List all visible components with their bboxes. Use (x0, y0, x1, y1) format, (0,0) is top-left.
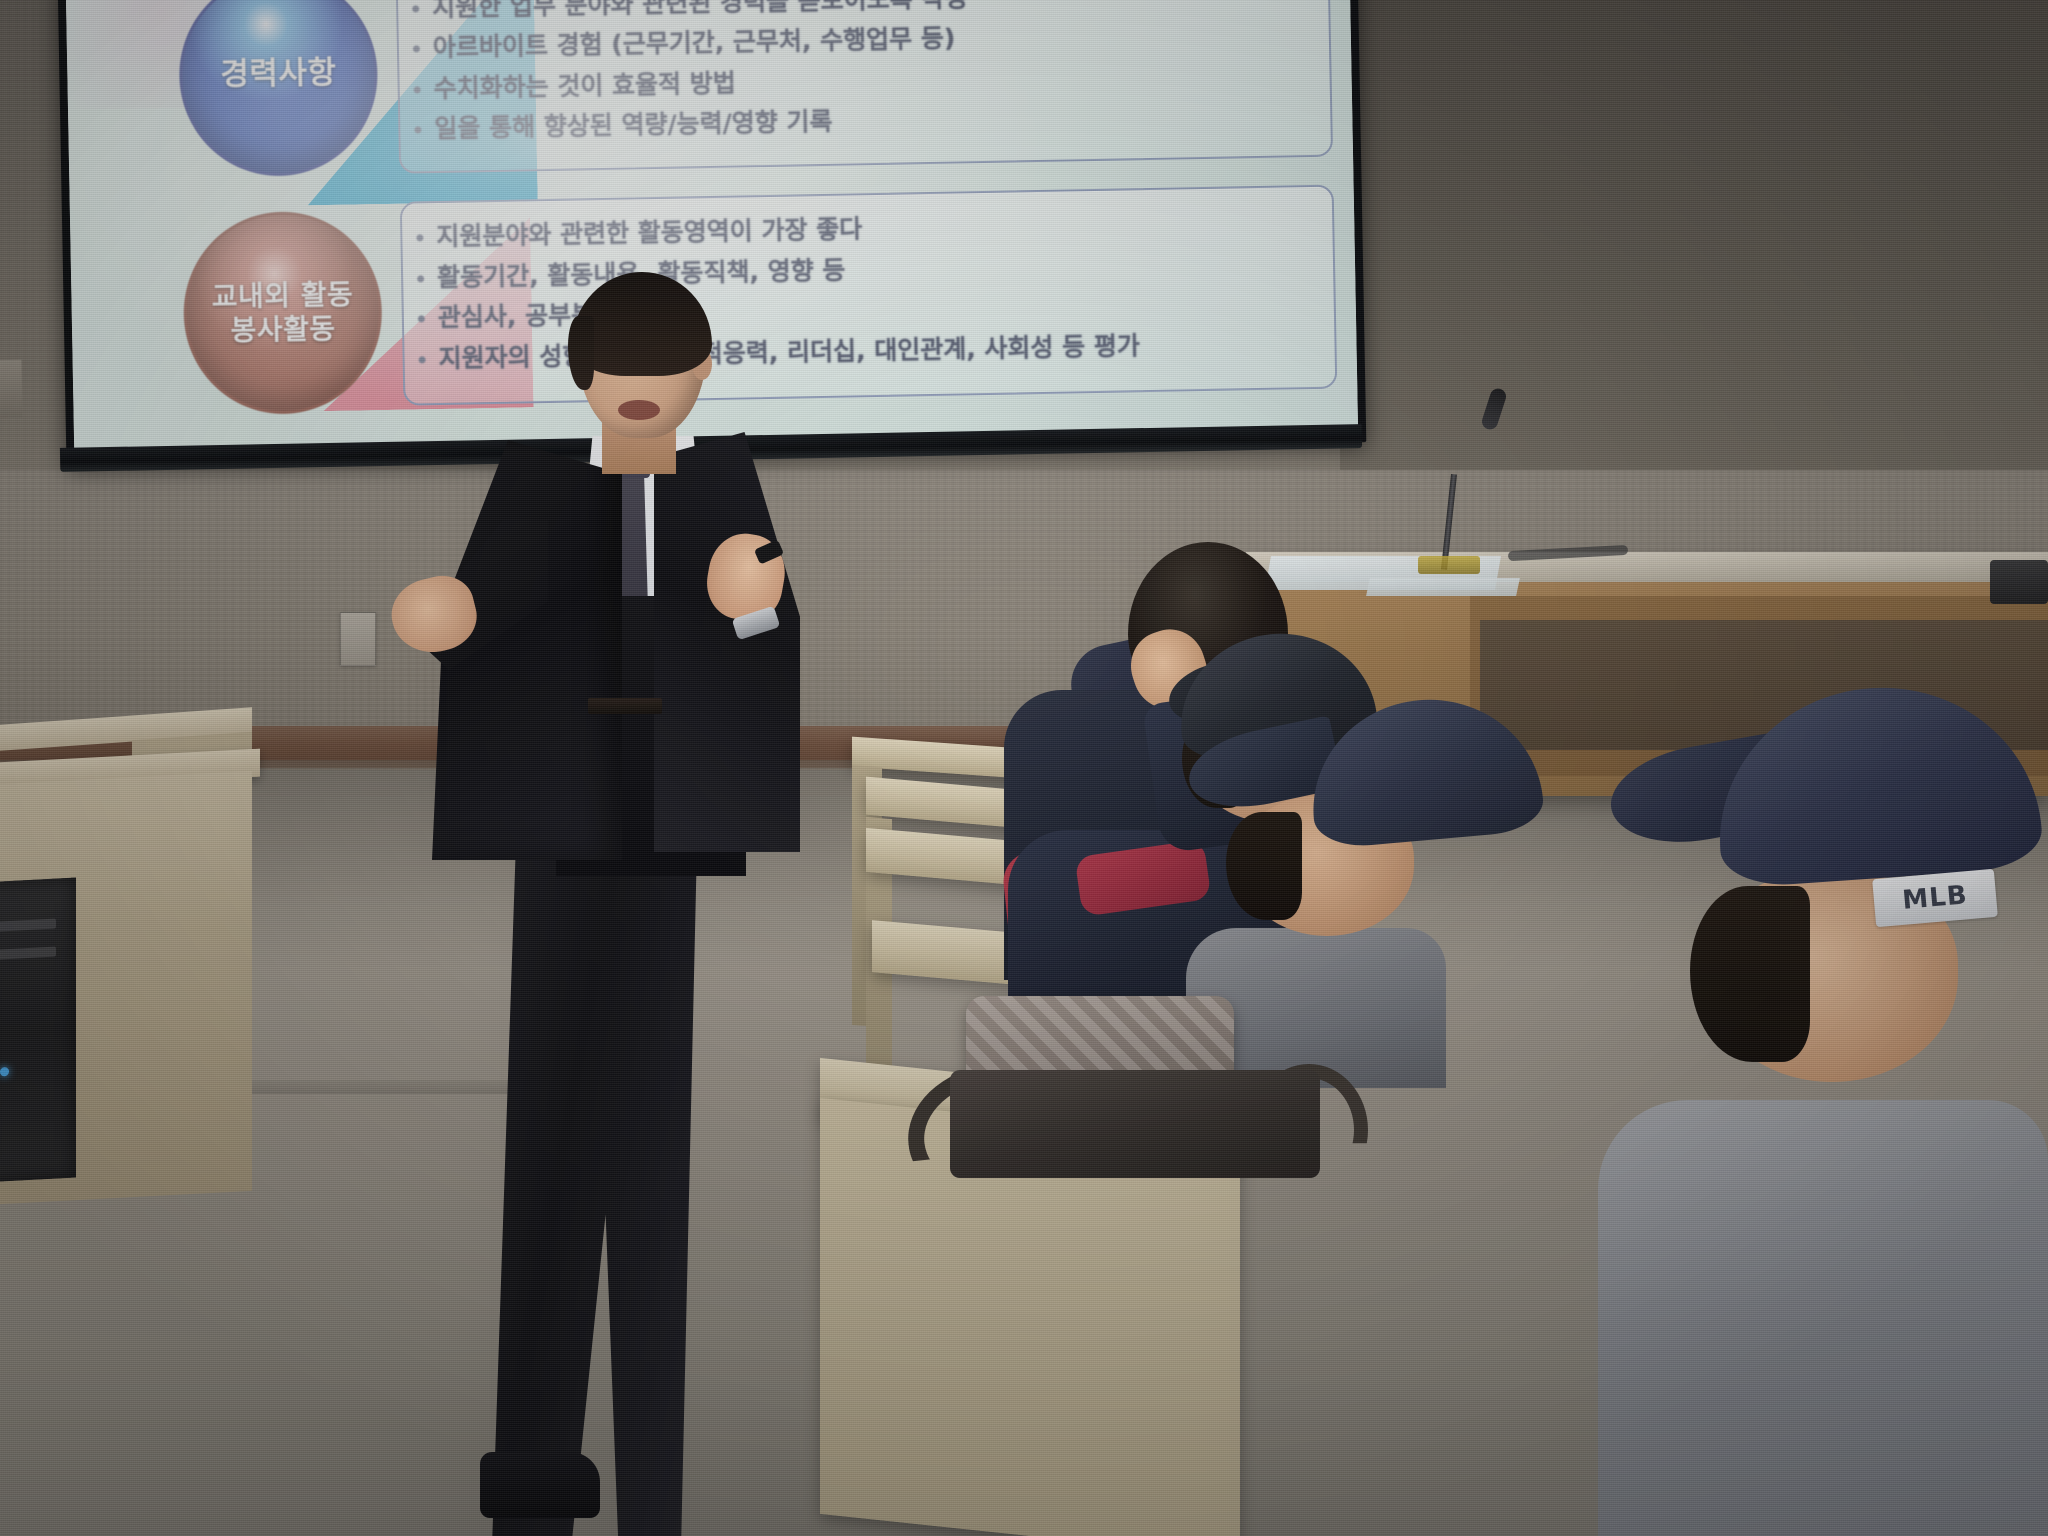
presenter-mouth (618, 400, 660, 420)
photo-scene: 경력사항 자신이 경험한 경력 사항, 소속부서, 담당업무 기재 지원한 업무… (0, 0, 2048, 1536)
slide-circle-activities-label-2: 봉사활동 (230, 312, 336, 348)
slide-circle-activities-label-1: 교내외 활동 (211, 277, 353, 314)
slide-bullets-career: 자신이 경험한 경력 사항, 소속부서, 담당업무 기재 지원한 업무 분야와 … (397, 0, 1331, 150)
slide-panel-activities: 지원분야와 관련한 활동영역이 가장 좋다 활동기간, 활동내용, 활동직책, … (400, 185, 1338, 406)
student-hair (1226, 812, 1302, 920)
wall-outlet-panel (340, 612, 376, 666)
presentation-slide: 경력사항 자신이 경험한 경력 사항, 소속부서, 담당업무 기재 지원한 업무… (66, 0, 1358, 452)
screen-surface: 경력사항 자신이 경험한 경력 사항, 소속부서, 담당업무 기재 지원한 업무… (66, 0, 1358, 452)
pc-drive-slot (0, 947, 56, 960)
presenter-shoe (480, 1452, 600, 1518)
pc-tower (0, 877, 76, 1182)
microphone-base (1418, 556, 1480, 574)
slide-panel-career: 자신이 경험한 경력 사항, 소속부서, 담당업무 기재 지원한 업무 분야와 … (395, 0, 1333, 174)
podium-paper-secondary (1366, 578, 1520, 596)
bag-lower-body (950, 1070, 1320, 1178)
equipment-box (1990, 560, 2048, 604)
pc-drive-slot (0, 919, 56, 932)
presenter-belt (588, 698, 662, 714)
student-hair (1690, 886, 1810, 1062)
slide-bullets-activities: 지원분야와 관련한 활동영역이 가장 좋다 활동기간, 활동내용, 활동직책, … (402, 187, 1335, 380)
slide-circle-career: 경력사항 (178, 0, 380, 178)
slide-circle-career-label: 경력사항 (220, 55, 337, 95)
projection-screen: 경력사항 자신이 경험한 경력 사항, 소속부서, 담당업무 기재 지원한 업무… (58, 0, 1367, 466)
student-torso (1598, 1100, 2048, 1536)
screen-left-edge (0, 360, 23, 418)
pc-power-led-icon (0, 1067, 9, 1076)
wall-right-shade (1340, 0, 2048, 470)
